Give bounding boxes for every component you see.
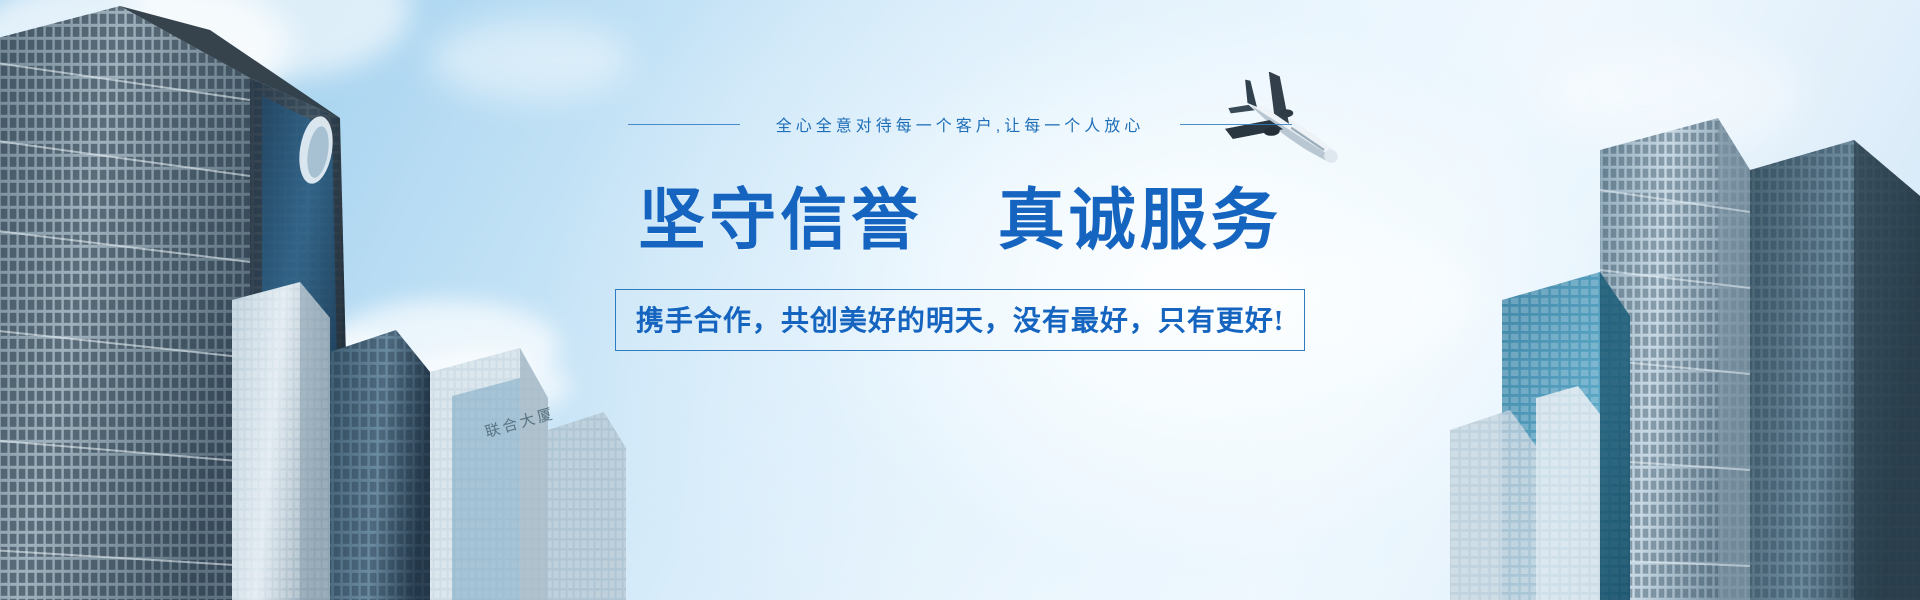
skyscraper-icon <box>0 0 640 600</box>
subtitle-text: 携手合作，共创美好的明天，没有最好，只有更好! <box>636 299 1284 339</box>
hero-banner: 联合大厦 <box>0 0 1920 600</box>
subtitle-box: 携手合作，共创美好的明天，没有最好，只有更好! <box>615 289 1305 351</box>
cloud-icon <box>1180 240 1480 360</box>
headline-left: 坚守信誉 <box>638 184 922 258</box>
airplane-icon <box>1222 72 1352 192</box>
tagline-row: 全心全意对待每一个客户,让每一个人放心 <box>628 112 1292 136</box>
page-title: 坚守信誉 真诚服务 <box>638 166 1282 263</box>
headline-right: 真诚服务 <box>998 184 1282 258</box>
divider-rule-left <box>628 124 740 125</box>
tagline-text: 全心全意对待每一个客户,让每一个人放心 <box>776 112 1144 136</box>
skyscraper-icon <box>1450 0 1920 600</box>
